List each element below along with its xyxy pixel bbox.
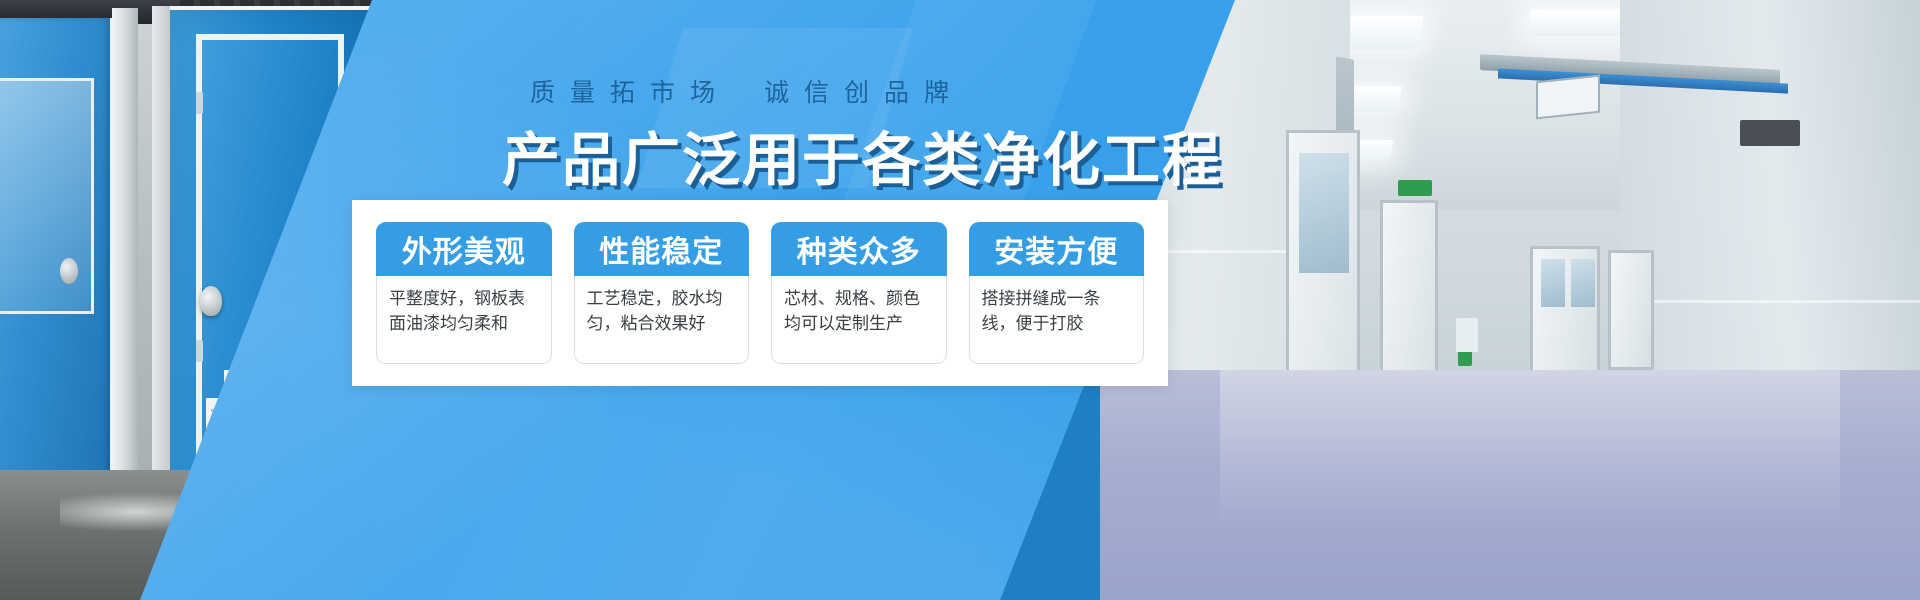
corridor-door-far-left xyxy=(1530,246,1600,376)
ceiling-sign xyxy=(1536,75,1600,120)
exit-sign-green xyxy=(1398,180,1432,196)
feature-card-body: 搭接拼缝成一条线，便于打胶 xyxy=(969,276,1145,364)
banner-subtitle: 质量拓市场诚信创品牌 xyxy=(530,73,964,109)
floor-reflection xyxy=(1220,370,1840,600)
feature-card-title: 种类众多 xyxy=(771,222,947,276)
feature-card[interactable]: 外形美观 平整度好，钢板表面油漆均匀柔和 xyxy=(376,222,552,364)
door-hinge-top xyxy=(196,92,203,114)
feature-cards-row: 外形美观 平整度好，钢板表面油漆均匀柔和 性能稳定 工艺稳定，胶水均匀，粘合效果… xyxy=(352,200,1168,364)
feature-card-title: 外形美观 xyxy=(376,222,552,276)
feature-card-body: 工艺稳定，胶水均匀，粘合效果好 xyxy=(574,276,750,364)
door-lock xyxy=(200,286,222,316)
feature-card[interactable]: 安装方便 搭接拼缝成一条线，便于打胶 xyxy=(969,222,1145,364)
feature-cards-panel: 外形美观 平整度好，钢板表面油漆均匀柔和 性能稳定 工艺稳定，胶水均匀，粘合效果… xyxy=(352,200,1168,386)
feature-card-body: 平整度好，钢板表面油漆均匀柔和 xyxy=(376,276,552,364)
subtitle-part-1: 质量拓市场 xyxy=(530,79,730,107)
door-hinge-bottom xyxy=(196,340,203,362)
feature-card-title: 性能稳定 xyxy=(574,222,750,276)
ceiling-sensor xyxy=(1740,120,1800,146)
promo-banner: 质量拓市场诚信创品牌 产品广泛用于各类净化工程 外形美观 平整度好，钢板表面油漆… xyxy=(0,0,1920,600)
far-door-window-l xyxy=(1541,259,1565,307)
wall-extinguisher xyxy=(1456,318,1478,352)
feature-card-body: 芯材、规格、颜色均可以定制生产 xyxy=(771,276,947,364)
wall-panel-seam-3 xyxy=(1620,300,1920,303)
cabin-left-handle xyxy=(60,258,78,284)
subtitle-part-2: 诚信创品牌 xyxy=(764,79,964,107)
feature-card-title: 安装方便 xyxy=(969,222,1145,276)
feature-card[interactable]: 种类众多 芯材、规格、颜色均可以定制生产 xyxy=(771,222,947,364)
far-door-window-r xyxy=(1571,259,1595,307)
corridor-door-near-window xyxy=(1299,153,1349,273)
feature-card[interactable]: 性能稳定 工艺稳定，胶水均匀，粘合效果好 xyxy=(574,222,750,364)
cabin-left-glass xyxy=(0,78,94,314)
banner-headline: 产品广泛用于各类净化工程 xyxy=(502,113,1222,197)
right-cleanroom-photo xyxy=(1100,0,1920,600)
corridor-door-far-right xyxy=(1608,250,1654,370)
